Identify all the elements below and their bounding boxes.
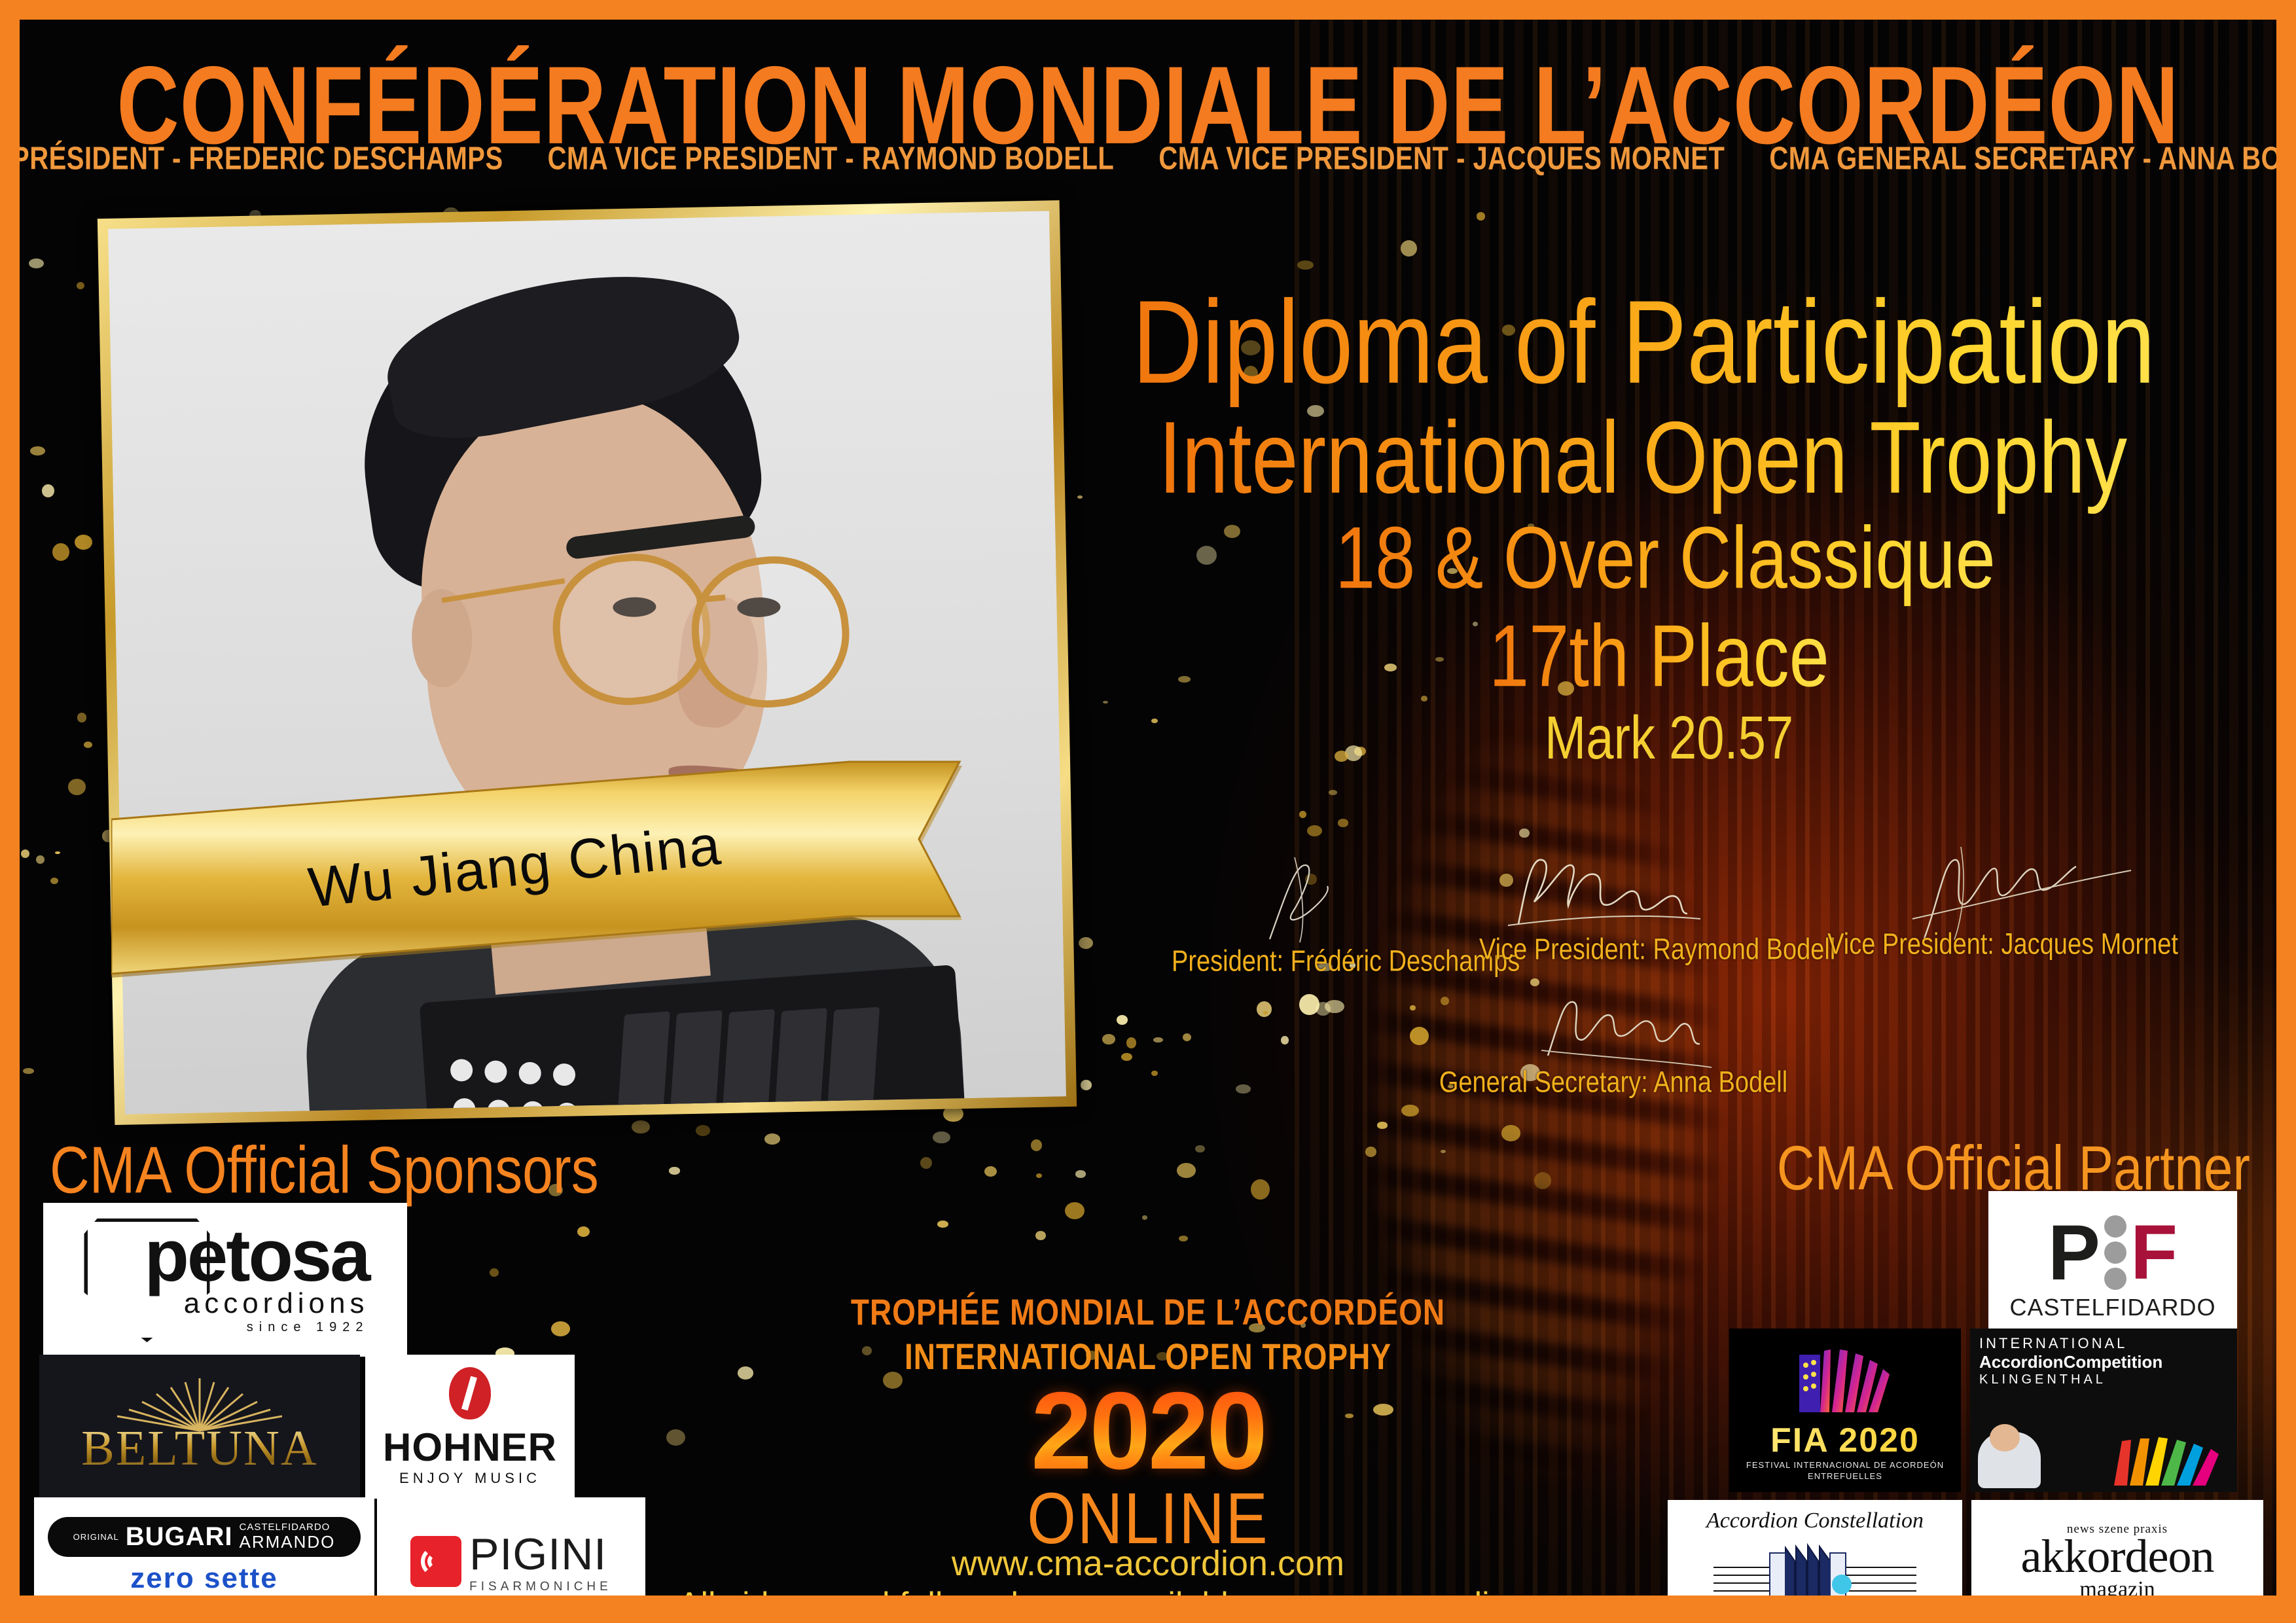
officer-general-secretary: CMA GENERAL SECRETARY - ANNA BODELL bbox=[1769, 141, 2276, 177]
award-category: 18 & Over Classique bbox=[1335, 507, 1996, 609]
footer-line-1: TROPHÉE MONDIAL DE L’ACCORDÉON bbox=[20, 1291, 2276, 1334]
officers-row: CMA PRÉSIDENT - FREDERIC DESCHAMPS CMA V… bbox=[20, 141, 2276, 177]
sponsor-logo-petosa[interactable]: petosa accordions since 1922 bbox=[43, 1203, 407, 1357]
signature-general-secretary: General Secretary: Anna Bodell bbox=[1430, 978, 1797, 1094]
signature-mark-president bbox=[1172, 857, 1486, 942]
officer-vice-president-1: CMA VICE PRESIDENT - RAYMOND BODELL bbox=[548, 141, 1115, 177]
officer-vice-president-2: CMA VICE PRESIDENT - JACQUES MORNET bbox=[1158, 141, 1725, 177]
award-placement: 17th Place bbox=[1489, 605, 1829, 707]
footer-url[interactable]: www.cma-accordion.com bbox=[20, 1543, 2276, 1584]
certificate: CONFÉDÉRATION MONDIALE DE L’ACCORDÉON CM… bbox=[0, 0, 2296, 1623]
award-mark: Mark 20.57 bbox=[1545, 704, 1793, 773]
signature-label-general-secretary: General Secretary: Anna Bodell bbox=[1430, 1066, 1797, 1100]
certificate-stage: CONFÉDÉRATION MONDIALE DE L’ACCORDÉON CM… bbox=[20, 20, 2276, 1596]
recipient-photo-frame bbox=[98, 200, 1077, 1125]
signature-vice-president-1: Vice President: Raymond Bodell bbox=[1479, 846, 1820, 961]
signature-label-vice-president-1: Vice President: Raymond Bodell bbox=[1479, 933, 1820, 967]
pif-letter-f: F bbox=[2130, 1222, 2178, 1283]
officer-president: CMA PRÉSIDENT - FREDERIC DESCHAMPS bbox=[20, 141, 503, 177]
signature-label-president: President: Frédéric Deschamps bbox=[1172, 945, 1486, 979]
signature-mark-vice-president-1 bbox=[1479, 846, 1820, 931]
signature-vice-president-2: Vice President: Jacques Mornet bbox=[1826, 840, 2179, 956]
signature-mark-general-secretary bbox=[1430, 978, 1797, 1063]
signature-label-vice-president-2: Vice President: Jacques Mornet bbox=[1826, 928, 2179, 962]
recipient-photo bbox=[108, 211, 1066, 1114]
pif-letter-p: P bbox=[2048, 1221, 2100, 1284]
footer-note: All videos and full marks are available … bbox=[20, 1585, 2276, 1596]
award-title: Diploma of Participation bbox=[1132, 275, 2155, 410]
award-event: International Open Trophy bbox=[1158, 399, 2127, 516]
signature-president: President: Frédéric Deschamps bbox=[1172, 857, 1486, 973]
signature-mark-vice-president-2 bbox=[1826, 840, 2179, 925]
sponsors-heading: CMA Official Sponsors bbox=[50, 1132, 599, 1208]
footer-year: 2020 bbox=[20, 1368, 2276, 1494]
pif-dots-icon bbox=[2104, 1211, 2126, 1294]
